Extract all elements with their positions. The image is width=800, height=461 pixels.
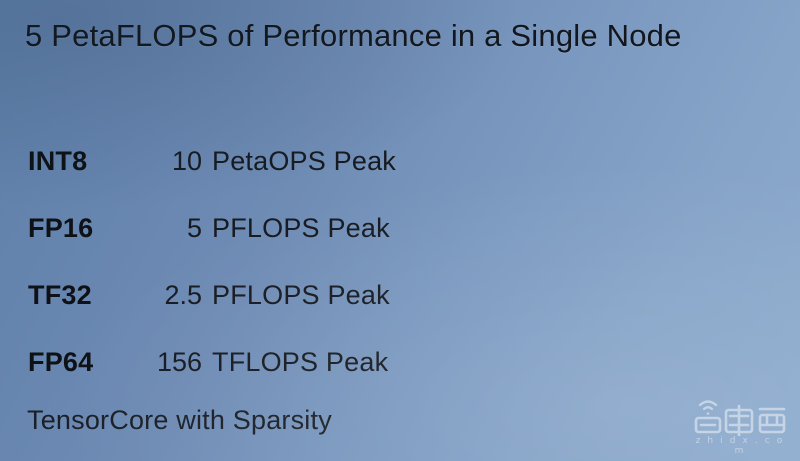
- spec-precision-label: INT8: [28, 128, 87, 195]
- zhidx-watermark: z h i d x . c o m: [688, 396, 792, 454]
- spec-value: 5: [110, 195, 202, 262]
- spec-value: 2.5: [110, 262, 202, 329]
- spec-unit: PFLOPS Peak: [212, 195, 390, 262]
- spec-value: 156: [110, 329, 202, 396]
- zhidx-watermark-domain: z h i d x . c o m: [688, 436, 792, 456]
- zhidx-logo-icon: [688, 396, 792, 436]
- spec-list: INT8 10 PetaOPS Peak FP16 5 PFLOPS Peak …: [0, 128, 800, 396]
- spec-unit: PetaOPS Peak: [212, 128, 396, 195]
- spec-row: INT8 10 PetaOPS Peak: [0, 128, 800, 195]
- spec-value: 10: [110, 128, 202, 195]
- slide-footnote: TensorCore with Sparsity: [27, 405, 332, 436]
- slide-canvas: 5 PetaFLOPS of Performance in a Single N…: [0, 0, 800, 461]
- spec-unit: PFLOPS Peak: [212, 262, 390, 329]
- slide-title: 5 PetaFLOPS of Performance in a Single N…: [25, 18, 682, 54]
- spec-row: FP16 5 PFLOPS Peak: [0, 195, 800, 262]
- spec-row: TF32 2.5 PFLOPS Peak: [0, 262, 800, 329]
- spec-precision-label: FP16: [28, 195, 93, 262]
- spec-row: FP64 156 TFLOPS Peak: [0, 329, 800, 396]
- spec-precision-label: TF32: [28, 262, 92, 329]
- spec-precision-label: FP64: [28, 329, 93, 396]
- spec-unit: TFLOPS Peak: [212, 329, 388, 396]
